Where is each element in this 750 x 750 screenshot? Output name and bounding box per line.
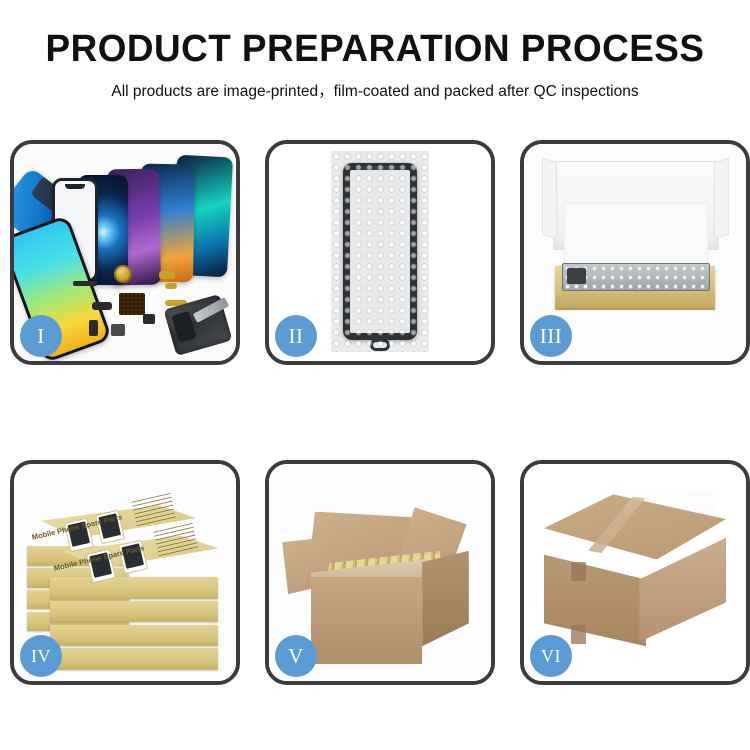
carton-front-face xyxy=(311,577,422,664)
sealed-carton-front xyxy=(544,542,646,646)
speaker-part xyxy=(111,324,125,336)
wrapped-product-in-box xyxy=(562,263,711,291)
stack-box-r1 xyxy=(50,577,219,599)
box-print-checklist-front xyxy=(153,523,198,559)
connector-strip xyxy=(73,281,97,286)
ic-chip xyxy=(143,314,155,324)
page-header: PRODUCT PREPARATION PROCESS All products… xyxy=(0,0,750,101)
carton-side-face xyxy=(422,551,469,646)
step-badge-3: III xyxy=(530,315,572,357)
page-title: PRODUCT PREPARATION PROCESS xyxy=(11,30,739,70)
process-step-panel-2[interactable]: II xyxy=(265,140,495,365)
step-badge-5: V xyxy=(275,635,317,677)
tape-tab-upper xyxy=(571,562,587,582)
step-badge-6: VI xyxy=(530,635,572,677)
coil-part xyxy=(114,265,132,283)
foam-insert xyxy=(564,203,708,270)
bubble-wrap-sheet xyxy=(331,151,429,353)
tape-tab-lower xyxy=(571,625,587,645)
process-step-panel-6[interactable]: VI xyxy=(520,460,750,685)
flex-cable-1 xyxy=(159,271,175,279)
camera-module xyxy=(92,302,112,310)
step-badge-4: IV xyxy=(20,635,62,677)
stack-box-r2 xyxy=(50,601,219,623)
process-step-grid: I II III xyxy=(10,140,740,685)
chip-array xyxy=(119,293,145,315)
flex-cable-2 xyxy=(165,283,177,289)
box-print-checklist-back xyxy=(131,492,176,528)
page-subtitle: All products are image-printed，film-coat… xyxy=(0,79,750,101)
stack-box-r4 xyxy=(50,648,219,670)
process-step-panel-5[interactable]: V xyxy=(265,460,495,685)
process-step-panel-1[interactable]: I xyxy=(10,140,240,365)
screen-digitizer xyxy=(343,163,417,341)
step-badge-1: I xyxy=(20,315,62,357)
step-badge-2: II xyxy=(275,315,317,357)
stack-box-r3 xyxy=(50,625,219,647)
process-step-panel-3[interactable]: III xyxy=(520,140,750,365)
spare-parts-group xyxy=(70,259,230,357)
process-step-panel-4[interactable]: Mobile Phone Spare Parts Mobile Phone Sp… xyxy=(10,460,240,685)
small-module xyxy=(89,320,98,336)
